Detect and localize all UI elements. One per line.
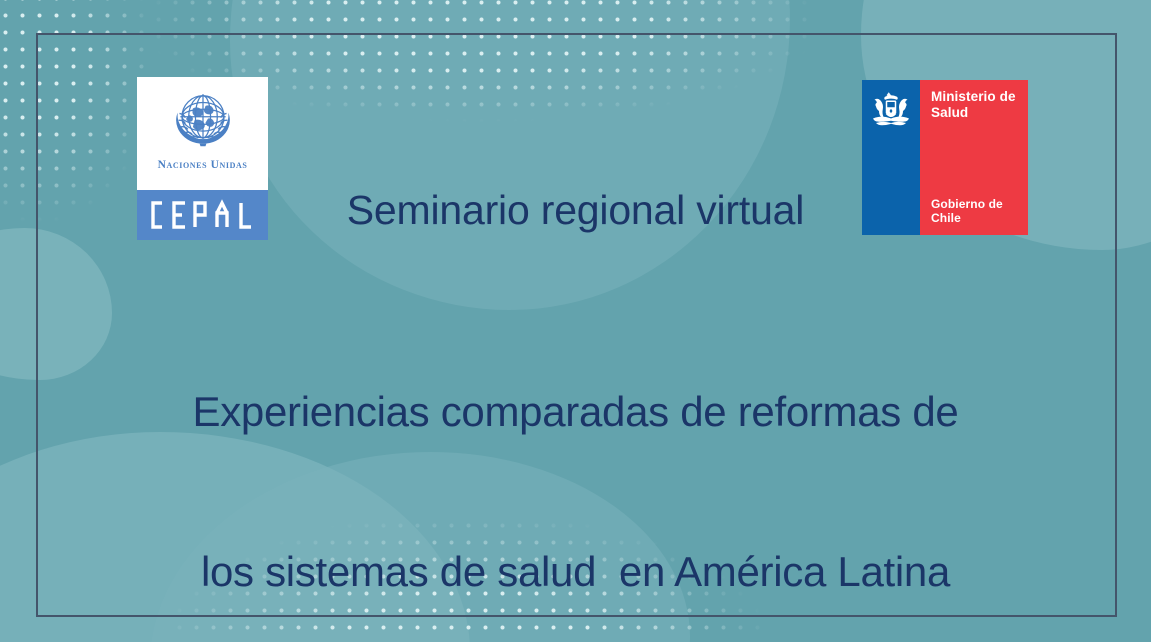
spacer-one — [0, 234, 1151, 278]
presentation-slide: Naciones Unidas — [0, 0, 1151, 642]
cepal-logo-upper: Naciones Unidas — [137, 77, 268, 190]
slide-text-block: Seminario regional virtual Experiencias … — [0, 186, 1151, 642]
minsal-title-line2: Salud — [931, 105, 1016, 121]
page-title: Experiencias comparadas de reformas de l… — [0, 278, 1151, 642]
cepal-logo-caption: Naciones Unidas — [137, 159, 268, 171]
minsal-title: Ministerio de Salud — [931, 89, 1016, 122]
page-title-line2: los sistemas de salud en América Latina — [0, 545, 1151, 598]
page-title-line1: Experiencias comparadas de reformas de — [0, 385, 1151, 438]
united-nations-emblem — [161, 83, 245, 159]
minsal-title-line1: Ministerio de — [931, 89, 1016, 105]
seminar-label: Seminario regional virtual — [0, 186, 1151, 234]
chile-coat-of-arms — [868, 90, 914, 132]
